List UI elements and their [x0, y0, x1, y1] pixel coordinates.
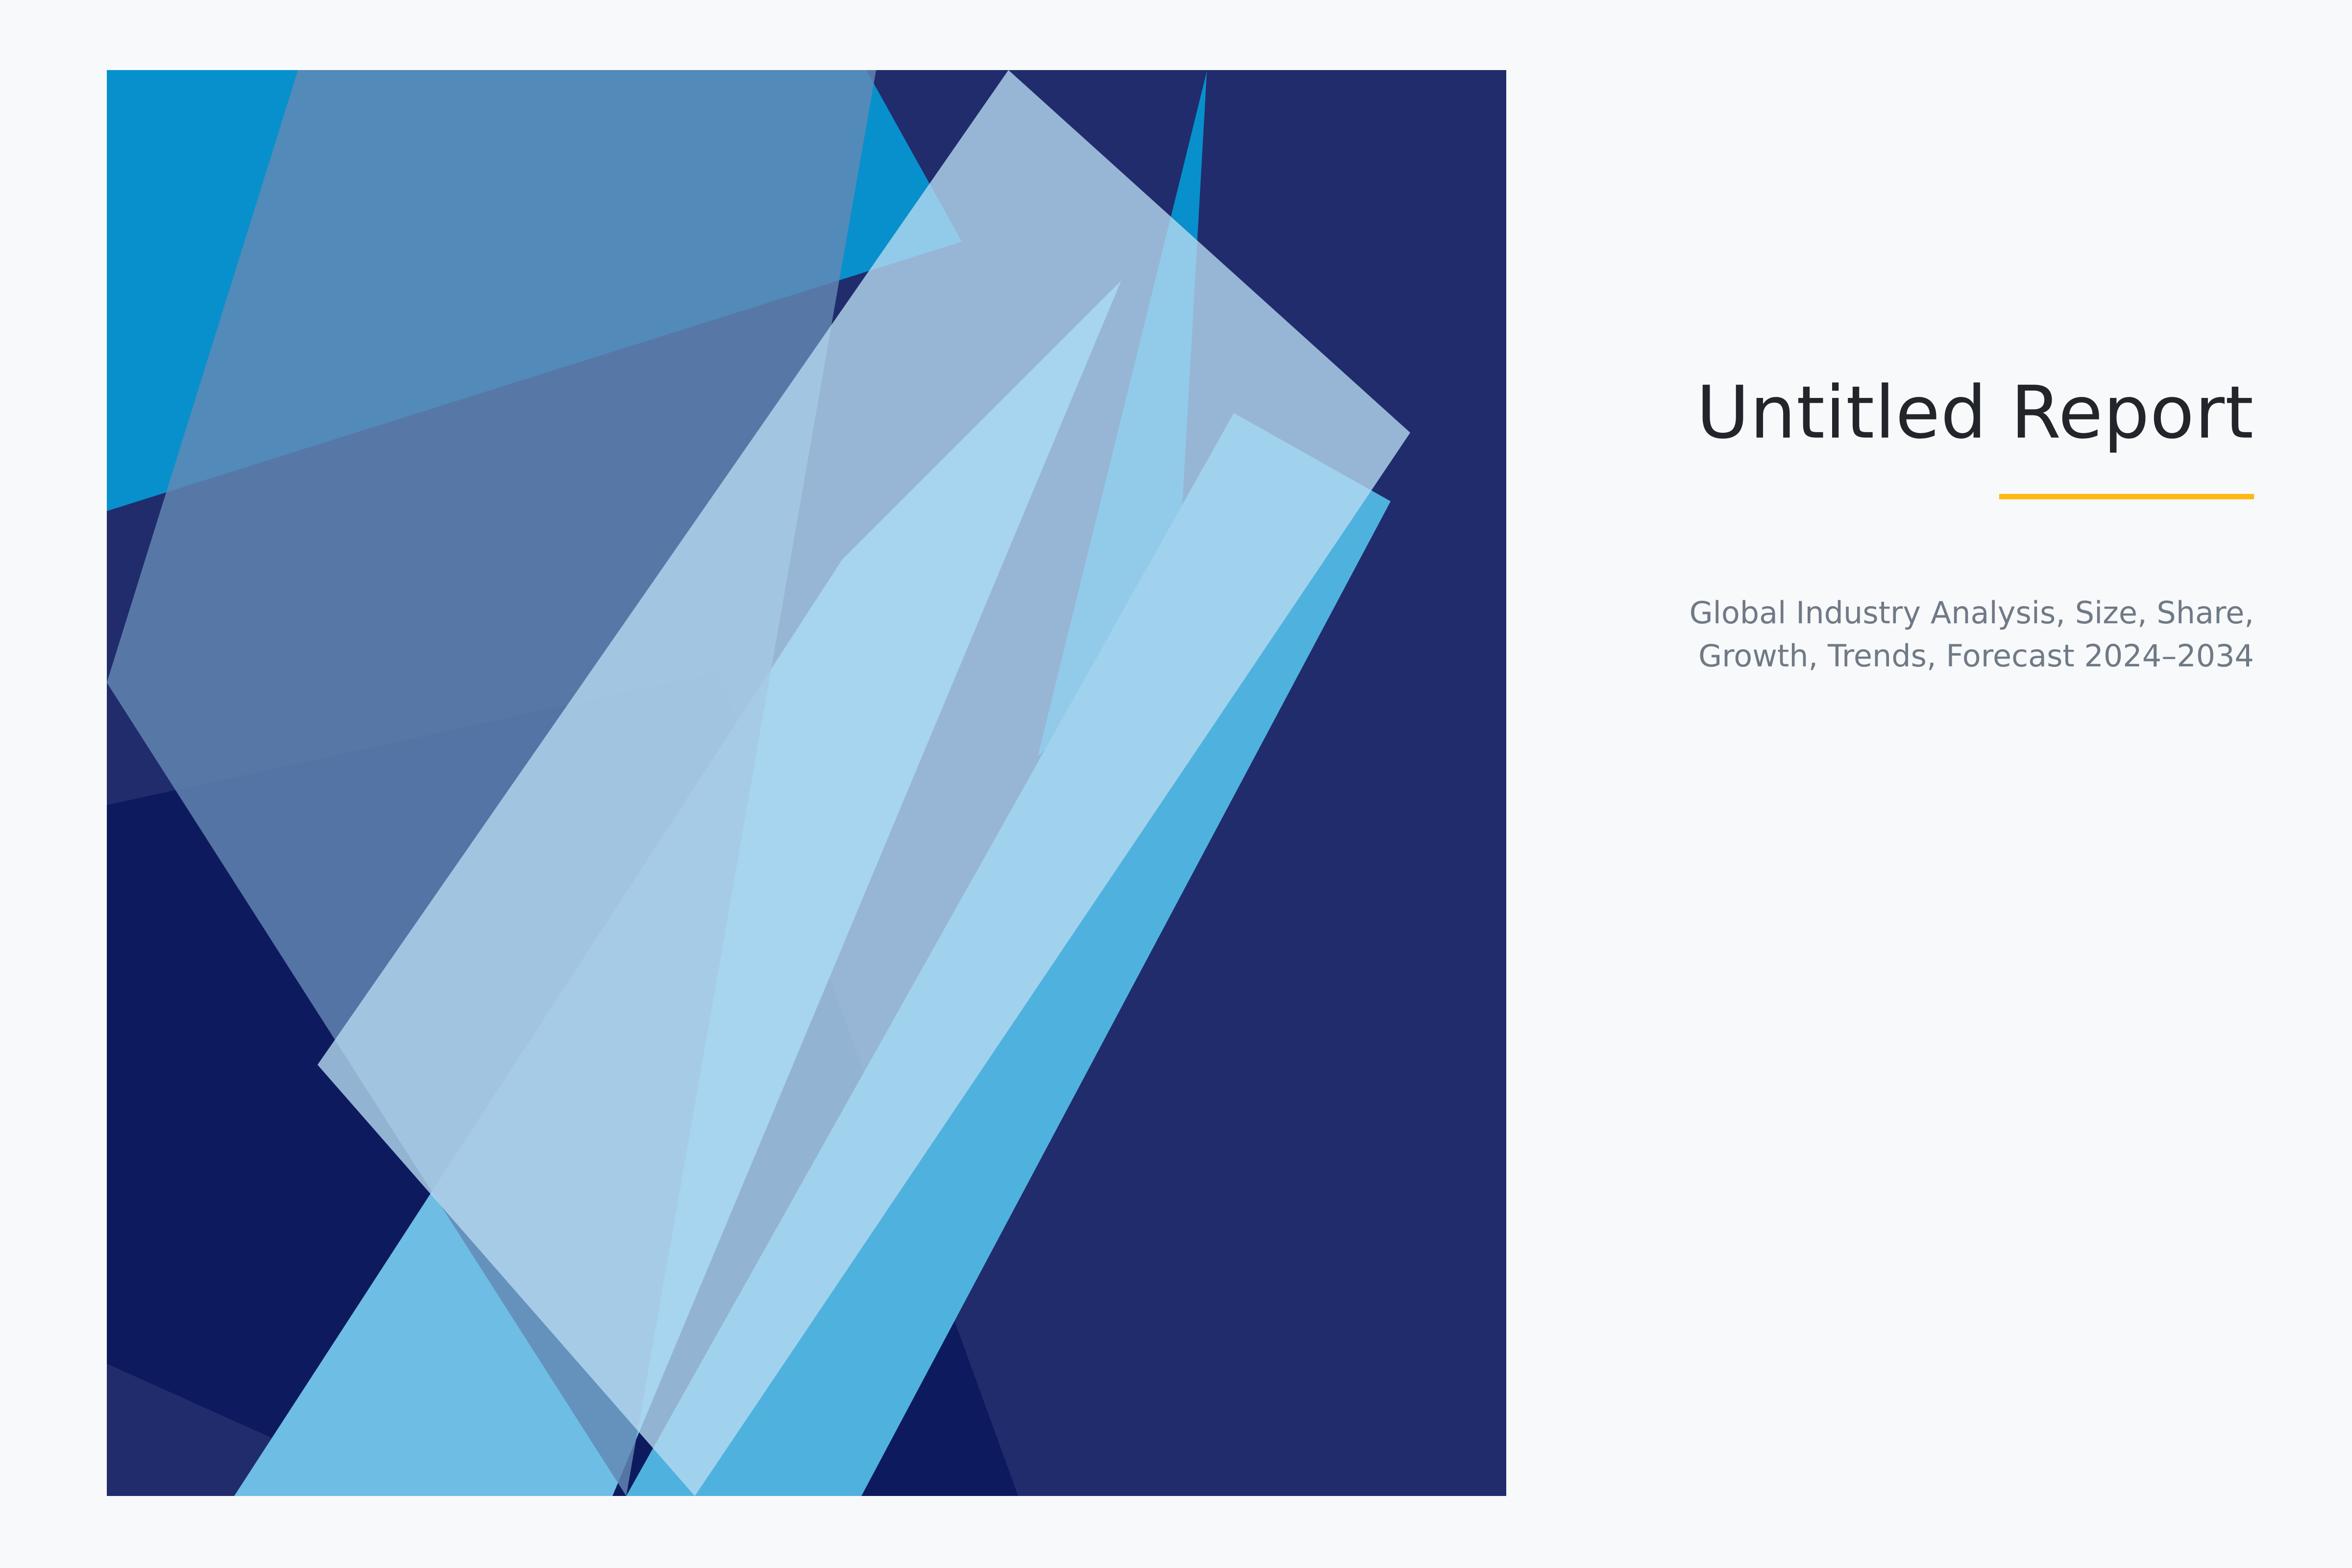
artwork-shape-group — [107, 70, 1506, 1496]
cover-page: Untitled Report Global Industry Analysis… — [0, 0, 2352, 1568]
title-accent-rule-wrapper — [1519, 494, 2254, 503]
cover-artwork-svg — [107, 70, 1506, 1496]
cover-text-block: Untitled Report Global Industry Analysis… — [1519, 372, 2254, 678]
page-title: Untitled Report — [1519, 372, 2254, 454]
cover-artwork — [107, 70, 1506, 1496]
page-subtitle: Global Industry Analysis, Size, Share, G… — [1612, 591, 2254, 678]
title-accent-rule — [1999, 494, 2254, 499]
